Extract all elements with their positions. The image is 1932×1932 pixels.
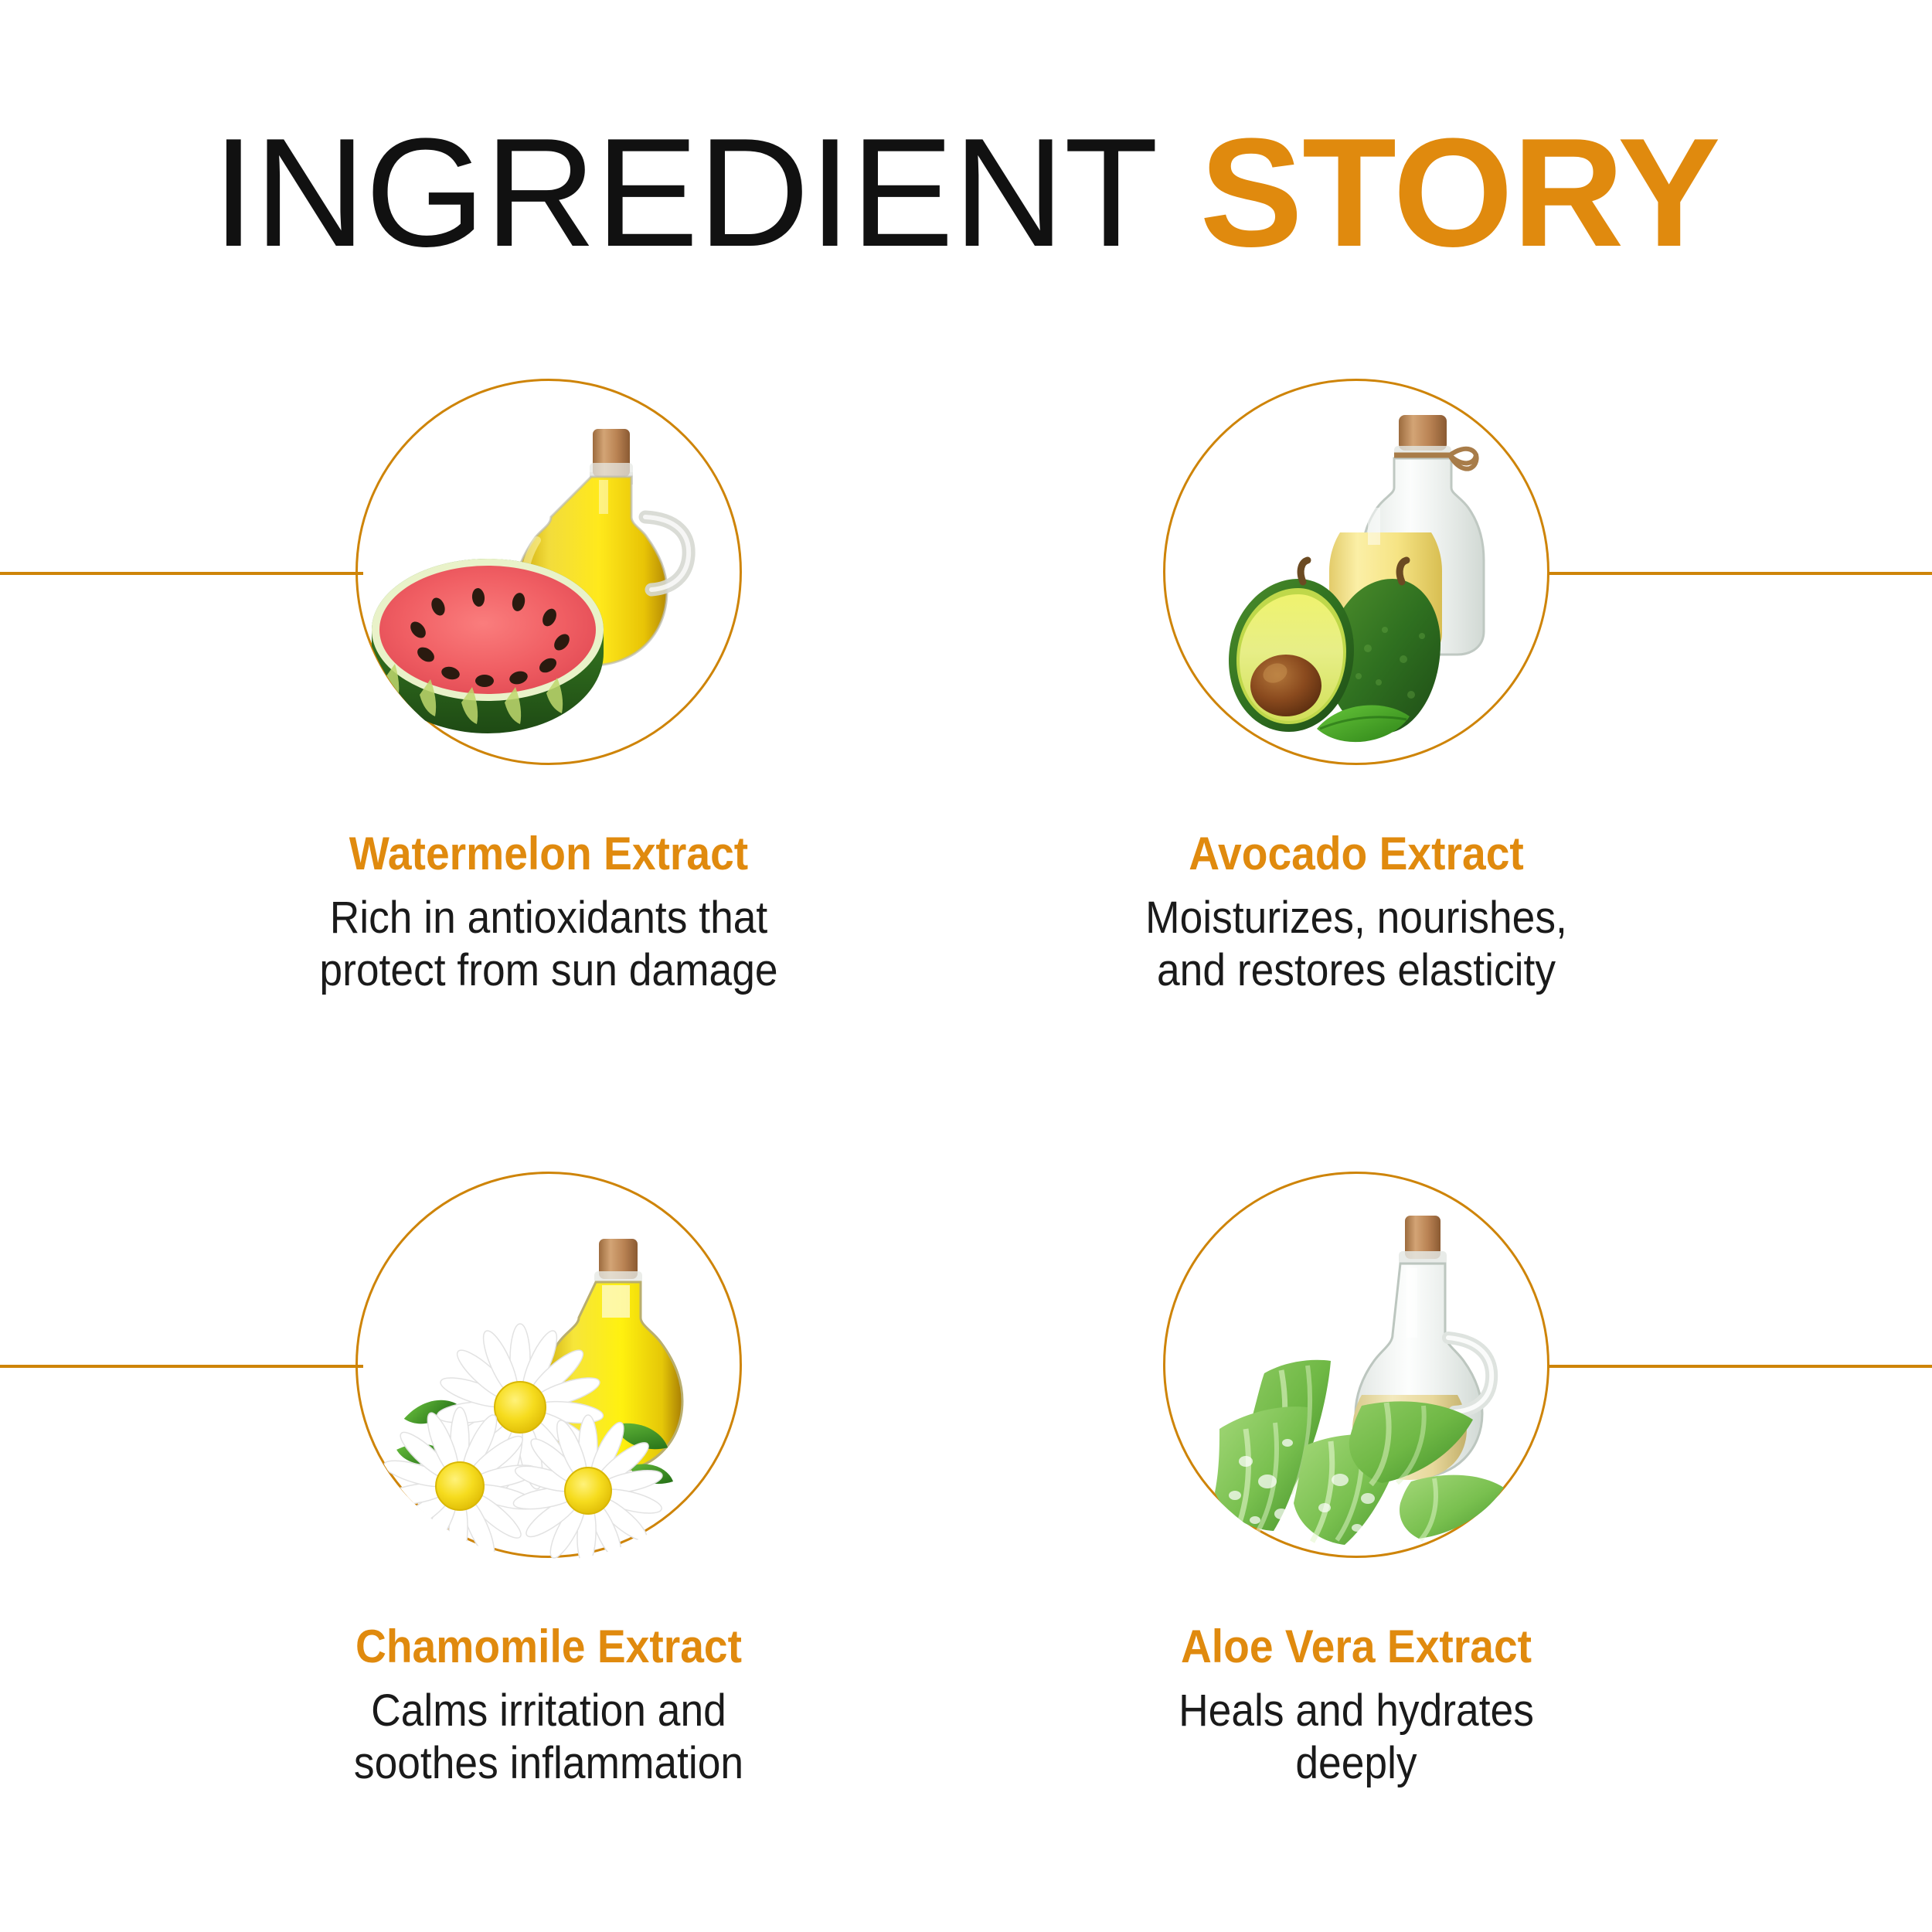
ingredient-story-page: INGREDIENT STORY (0, 0, 1932, 1932)
ingredient-image-wrap (66, 1172, 838, 1566)
ingredient-heading: Avocado Extract (912, 828, 1801, 879)
ingredient-description: Heals and hydrates deeply (912, 1685, 1801, 1790)
ingredient-image-wrap (66, 379, 838, 773)
description-line-2: deeply (912, 1737, 1801, 1790)
ingredient-description: Rich in antioxidants that protect from s… (104, 892, 993, 997)
watermelon-extract-icon (358, 381, 744, 767)
aloe-vera-extract-icon (1165, 1174, 1552, 1560)
ingredient-circle-frame (355, 1172, 742, 1558)
ingredient-image-wrap (873, 1172, 1646, 1566)
ingredient-card-aloe-vera[interactable]: Aloe Vera Extract Heals and hydrates dee… (873, 1172, 1839, 1790)
ingredient-image-wrap (873, 379, 1646, 773)
avocado-extract-icon (1165, 381, 1552, 767)
description-line-1: Heals and hydrates (912, 1685, 1801, 1737)
ingredient-circle-frame (355, 379, 742, 765)
description-line-2: soothes inflammation (104, 1737, 993, 1790)
description-line-1: Calms irritation and (104, 1685, 993, 1737)
ingredient-description: Moisturizes, nourishes, and restores ela… (912, 892, 1801, 997)
ingredient-card-avocado[interactable]: Avocado Extract Moisturizes, nourishes, … (873, 379, 1839, 997)
description-line-2: protect from sun damage (104, 944, 993, 997)
description-line-2: and restores elasticity (912, 944, 1801, 997)
ingredient-caption: Aloe Vera Extract Heals and hydrates dee… (873, 1621, 1839, 1790)
chamomile-extract-icon (358, 1174, 744, 1560)
description-line-1: Moisturizes, nourishes, (912, 892, 1801, 944)
ingredient-caption: Avocado Extract Moisturizes, nourishes, … (873, 828, 1839, 997)
ingredient-circle-frame (1163, 379, 1549, 765)
ingredient-heading: Chamomile Extract (104, 1621, 993, 1672)
description-line-1: Rich in antioxidants that (104, 892, 993, 944)
ingredient-grid: Watermelon Extract Rich in antioxidants … (0, 0, 1932, 1932)
ingredient-heading: Watermelon Extract (104, 828, 993, 879)
ingredient-description: Calms irritation and soothes inflammatio… (104, 1685, 993, 1790)
ingredient-heading: Aloe Vera Extract (912, 1621, 1801, 1672)
ingredient-circle-frame (1163, 1172, 1549, 1558)
